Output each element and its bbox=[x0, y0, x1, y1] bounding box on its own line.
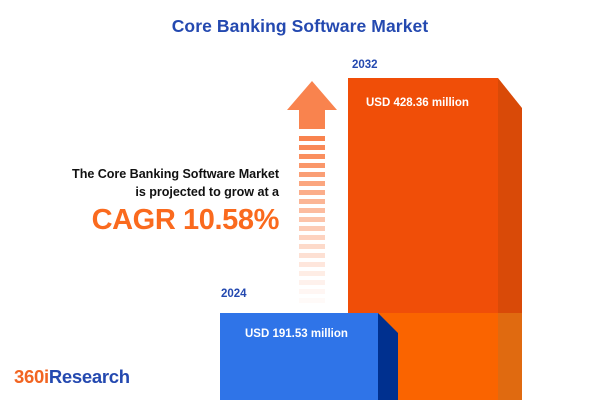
bar-2024-value-label: USD 191.53 million bbox=[245, 328, 348, 340]
bar-2024-year-label: 2024 bbox=[221, 288, 247, 300]
brand-logo: 360iResearch bbox=[14, 366, 130, 388]
cagr-line-1: The Core Banking Software Market bbox=[14, 166, 279, 184]
up-arrow-icon bbox=[286, 80, 338, 305]
cagr-callout: The Core Banking Software Market is proj… bbox=[14, 166, 279, 235]
bar-2024 bbox=[220, 313, 398, 400]
logo-text-360: 360 bbox=[14, 366, 44, 387]
bar-2032-value-label: USD 428.36 million bbox=[366, 97, 469, 109]
infographic-canvas: Core Banking Software Market bbox=[0, 0, 600, 400]
cagr-line-2: is projected to grow at a bbox=[14, 184, 279, 202]
page-title: Core Banking Software Market bbox=[0, 16, 600, 37]
bar-2032-year-label: 2032 bbox=[352, 59, 378, 71]
logo-text-research: Research bbox=[49, 366, 130, 387]
cagr-value: CAGR 10.58% bbox=[14, 205, 279, 235]
